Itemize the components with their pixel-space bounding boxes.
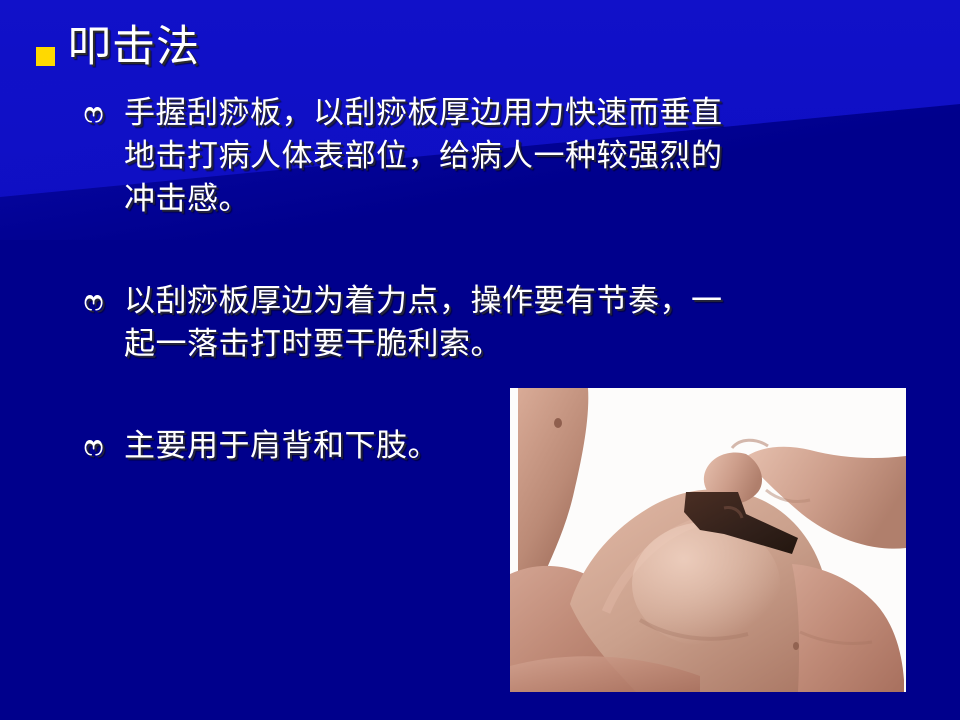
page-title: 叩击法	[68, 26, 200, 69]
bullet-item-1: ෆ 手握刮痧板，以刮痧板厚边用力快速而垂直地击打病人体表部位，给病人一种较强烈的…	[84, 92, 724, 221]
bullet-item-2-text: 以刮痧板厚边为着力点，操作要有节奏，一起一落击打时要干脆利索。	[124, 280, 724, 366]
bullet-item-1-text: 手握刮痧板，以刮痧板厚边用力快速而垂直地击打病人体表部位，给病人一种较强烈的冲击…	[124, 92, 724, 221]
cs-bullet-icon: ෆ	[84, 425, 124, 468]
slide-title: 叩击法	[36, 26, 200, 69]
bullet-item-2: ෆ 以刮痧板厚边为着力点，操作要有节奏，一起一落击打时要干脆利索。	[84, 280, 724, 366]
slide-canvas: 叩击法 ෆ 手握刮痧板，以刮痧板厚边用力快速而垂直地击打病人体表部位，给病人一种…	[0, 0, 960, 720]
cs-bullet-icon: ෆ	[84, 280, 124, 323]
cs-bullet-icon: ෆ	[84, 92, 124, 135]
square-bullet-icon	[36, 47, 55, 66]
photo-illustration	[510, 388, 906, 692]
demonstration-photo	[510, 388, 906, 692]
